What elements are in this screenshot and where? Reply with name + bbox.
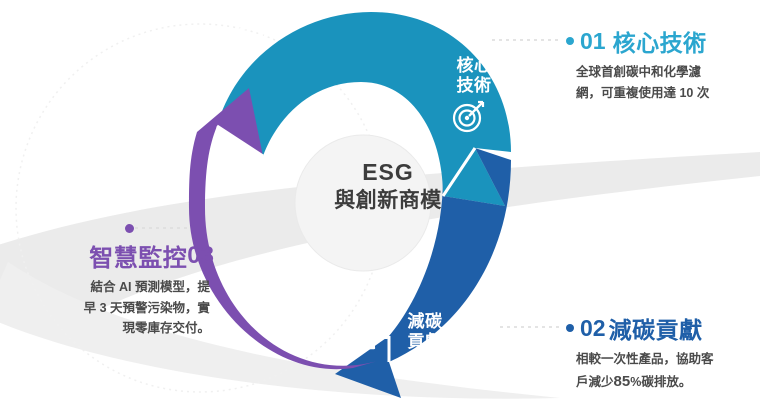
callout-02-highlight-value: 85: [614, 373, 631, 390]
callout-02-title: 減碳貢獻: [609, 311, 703, 345]
cycle-diagram: [175, 0, 515, 417]
bullet-dot-icon: [566, 37, 574, 45]
callout-02: 02 減碳貢獻 相較一次性產品，協助客 戶減少85%碳排放。: [566, 311, 752, 394]
callout-03-title: 智慧監控: [89, 238, 187, 273]
hub-circle: [295, 135, 431, 271]
callout-02-heading: 02 減碳貢獻: [566, 311, 752, 345]
callout-03-body-line1: 結合 AI 預測模型，提: [14, 277, 210, 298]
callout-02-body: 相較一次性產品，協助客 戶減少85%碳排放。: [566, 349, 752, 394]
callout-01-number: 01: [580, 28, 606, 55]
callout-03: 智慧監控 03 結合 AI 預測模型，提 早 3 天預警污染物，實 現零庫存交付…: [14, 238, 214, 339]
bullet-dot-icon: [125, 224, 134, 233]
callout-03-heading: 智慧監控 03: [14, 238, 214, 273]
callout-01-body-line2: 網，可重複使用達 10 次: [576, 83, 752, 104]
callout-01-body: 全球首創碳中和化學濾 網，可重複使用達 10 次: [566, 62, 752, 103]
bullet-dot-icon: [566, 324, 574, 332]
callout-02-body-line2: 戶減少85%碳排放。: [576, 370, 752, 395]
callout-03-number: 03: [187, 242, 214, 270]
callout-01-title: 核心技術: [613, 24, 707, 58]
callout-03-body-line3: 現零庫存交付。: [14, 318, 210, 339]
callout-01-heading: 01 核心技術: [566, 24, 752, 58]
callout-01: 01 核心技術 全球首創碳中和化學濾 網，可重複使用達 10 次: [566, 24, 752, 103]
callout-02-body-line2-pre: 戶減少: [576, 375, 614, 389]
callout-02-body-line2-post: %碳排放。: [630, 375, 691, 389]
callout-02-body-line1: 相較一次性產品，協助客: [576, 349, 752, 370]
eye-icon: [225, 17, 269, 50]
callout-03-body-line2: 早 3 天預警污染物，實: [14, 298, 210, 319]
callout-02-number: 02: [580, 315, 606, 342]
callout-01-body-line1: 全球首創碳中和化學濾: [576, 62, 752, 83]
callout-03-body: 結合 AI 預測模型，提 早 3 天預警污染物，實 現零庫存交付。: [14, 277, 214, 339]
